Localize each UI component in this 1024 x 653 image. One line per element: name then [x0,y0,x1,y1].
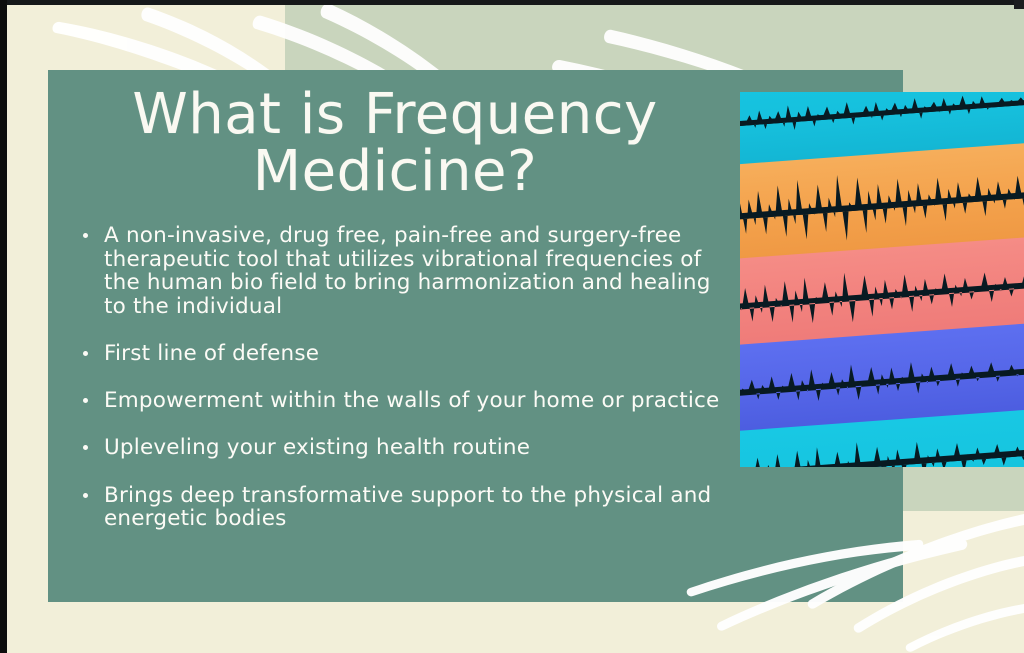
list-item: A non-invasive, drug free, pain-free and… [70,224,735,318]
bullet-text: A non-invasive, drug free, pain-free and… [104,223,711,319]
title-line-1: What is Frequency [75,88,715,143]
waveform-image [740,92,1024,467]
bullet-list: A non-invasive, drug free, pain-free and… [70,224,735,531]
bullet-text: Empowerment within the walls of your hom… [104,388,719,413]
list-item: Brings deep transformative support to th… [70,484,735,531]
slide-canvas: What is Frequency Medicine? A non-invasi… [0,0,1024,653]
window-edge-top-right [1014,0,1024,9]
waveform-image-inner [740,92,1024,467]
bullet-text: Upleveling your existing health routine [104,435,530,460]
bullet-dot-icon [83,398,88,403]
bullet-text: First line of defense [104,341,319,366]
list-item: First line of defense [70,342,735,366]
bullet-dot-icon [83,233,88,238]
window-edge-top [0,0,1024,5]
title-line-2: Medicine? [75,145,715,200]
window-edge-left [0,0,7,653]
bullet-dot-icon [83,493,88,498]
bullet-dot-icon [83,351,88,356]
list-item: Upleveling your existing health routine [70,436,735,460]
bullet-text: Brings deep transformative support to th… [104,483,711,532]
slide-title: What is Frequency Medicine? [75,88,715,200]
list-item: Empowerment within the walls of your hom… [70,389,735,413]
bullet-dot-icon [83,445,88,450]
